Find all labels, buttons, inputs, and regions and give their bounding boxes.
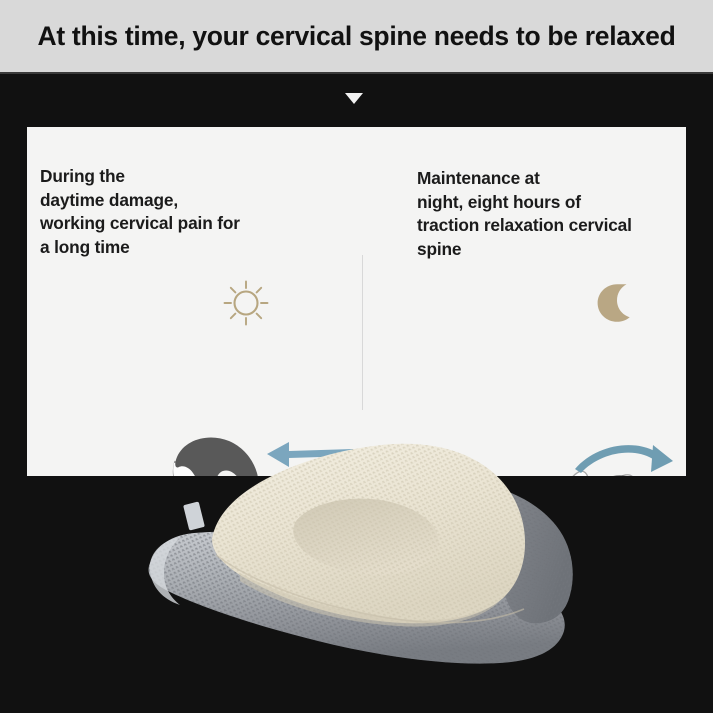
panel-daytime-text: During the daytime damage, working cervi… bbox=[40, 165, 340, 259]
sun-icon bbox=[218, 275, 274, 331]
product-pillow-image bbox=[120, 395, 590, 695]
panel-nighttime-text: Maintenance at night, eight hours of tra… bbox=[417, 167, 686, 261]
product-infographic-page: At this time, your cervical spine needs … bbox=[0, 0, 713, 713]
moon-icon bbox=[594, 280, 638, 324]
triangle-down-icon bbox=[345, 93, 363, 104]
pillow-brand-tag bbox=[183, 501, 205, 530]
header-banner: At this time, your cervical spine needs … bbox=[0, 0, 713, 72]
page-title: At this time, your cervical spine needs … bbox=[38, 23, 676, 50]
panel-divider bbox=[362, 255, 363, 410]
